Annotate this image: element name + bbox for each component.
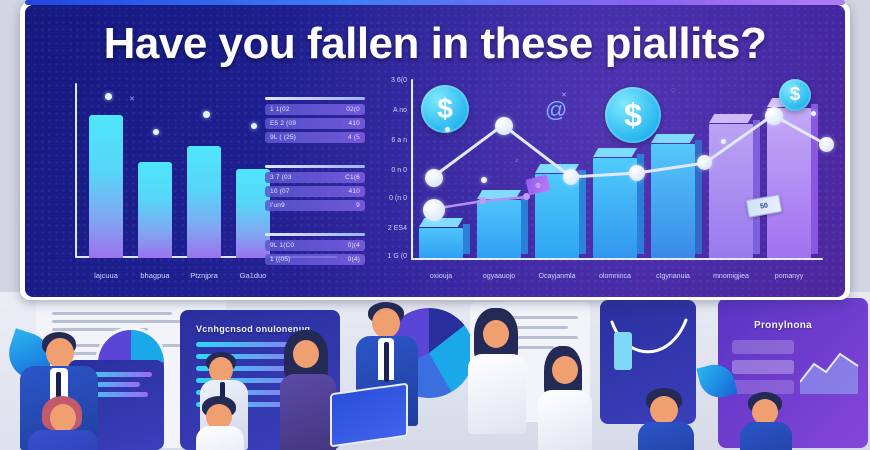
- data-card-group: 3 7 (03 C1(6 10 (07 410 I'un9 9: [265, 165, 365, 214]
- sparkle-icon: [153, 129, 159, 135]
- at-symbol-icon: @: [545, 97, 567, 123]
- data-card-right: 4 (5: [348, 134, 360, 141]
- sparkle-icon: [721, 139, 726, 144]
- line-node: [423, 199, 445, 221]
- scene-text-line: [52, 312, 172, 315]
- page-title: Have you fallen in these piallits?: [25, 19, 845, 69]
- data-card-group: 9L 1(C0 0)(4 1 ((05) 0(4): [265, 233, 365, 268]
- dollar-coin-icon: $: [421, 85, 469, 133]
- sparkle-icon: [811, 111, 816, 116]
- data-card-row: 10 (07 410: [265, 186, 365, 197]
- y-axis: [75, 83, 77, 258]
- data-card-right: 0)(4: [348, 242, 360, 249]
- data-card-left: 9L ( (25): [270, 134, 296, 141]
- scene-panel-right-title: Pronylnona: [754, 320, 812, 331]
- data-card-header: [265, 97, 365, 100]
- bar: [89, 115, 123, 258]
- scene-area-chart: [800, 342, 860, 394]
- data-card-left: E5 2 (09: [270, 120, 296, 127]
- sparkle-icon: [481, 177, 487, 183]
- bar: [138, 162, 172, 258]
- dollar-coin-icon: $: [605, 87, 661, 143]
- data-card-left: 3 7 (03: [270, 174, 292, 181]
- data-card-left: 1 1(02: [270, 106, 290, 113]
- data-card-right: 9: [356, 202, 360, 209]
- data-card-header: [265, 165, 365, 168]
- data-card-right: C1(6: [345, 174, 360, 181]
- data-card-right: 410: [349, 120, 360, 127]
- data-card-header: [265, 233, 365, 236]
- data-card-row: 3 7 (03 C1(6: [265, 172, 365, 183]
- line-node: [425, 169, 443, 187]
- line-node: [563, 169, 579, 185]
- line-node: [495, 117, 513, 135]
- dollar-coin-icon: $: [779, 79, 811, 111]
- data-card-group: 1 1(02 02(0 E5 2 (09 410 9L ( (25) 4 (5: [265, 97, 365, 146]
- line-node: [697, 155, 712, 170]
- scene-stat-row: [732, 340, 794, 354]
- data-card-row: I'un9 9: [265, 200, 365, 211]
- line-node: [629, 165, 645, 181]
- data-card-row: 9L ( (25) 4 (5: [265, 132, 365, 143]
- line-node-purple: [479, 197, 486, 204]
- sparkle-icon: [251, 123, 257, 129]
- data-card-row: 1 ((05) 0(4): [265, 254, 365, 265]
- data-card-row: 9L 1(C0 0)(4: [265, 240, 365, 251]
- data-card-right: 02(0: [346, 106, 360, 113]
- bar: [187, 146, 221, 258]
- poster-image: Vcnhgcnsod onulonenug Pronylnona: [0, 0, 870, 450]
- sparkle-icon: ◌: [671, 87, 675, 94]
- sparkle-icon: [203, 111, 210, 118]
- data-card-left: 9L 1(C0: [270, 242, 294, 249]
- sparkle-icon: [445, 127, 450, 132]
- data-card-right: 0(4): [348, 256, 360, 263]
- data-card-row: E5 2 (09 410: [265, 118, 365, 129]
- laptop-icon: [330, 383, 408, 448]
- scene-stat-row: [732, 360, 794, 374]
- data-card-panel: 1 1(02 02(0 E5 2 (09 410 9L ( (25) 4 (5 …: [265, 97, 370, 282]
- sparkle-icon: [105, 93, 112, 100]
- line-node: [819, 137, 834, 152]
- line-node: [765, 107, 783, 125]
- data-card-left: 1 ((05): [270, 256, 291, 263]
- data-card-left: I'un9: [270, 202, 285, 209]
- data-card-row: 1 1(02 02(0: [265, 104, 365, 115]
- data-card-left: 10 (07: [270, 188, 290, 195]
- illustration-scene: Vcnhgcnsod onulonenug Pronylnona: [0, 292, 870, 450]
- sparkle-icon: ♪: [515, 157, 519, 164]
- x-tick-label: pomanyy: [755, 273, 823, 280]
- data-card-right: 410: [349, 188, 360, 195]
- infographic-board: Have you fallen in these piallits? lajcu…: [25, 5, 845, 297]
- scene-monitor-block: [614, 332, 632, 370]
- right-combo-chart: 3 6(0 A no 6 a n 0 n 0 0 (n 0 2 ES4 1 G …: [375, 77, 830, 282]
- sparkle-icon: ✕: [129, 95, 135, 103]
